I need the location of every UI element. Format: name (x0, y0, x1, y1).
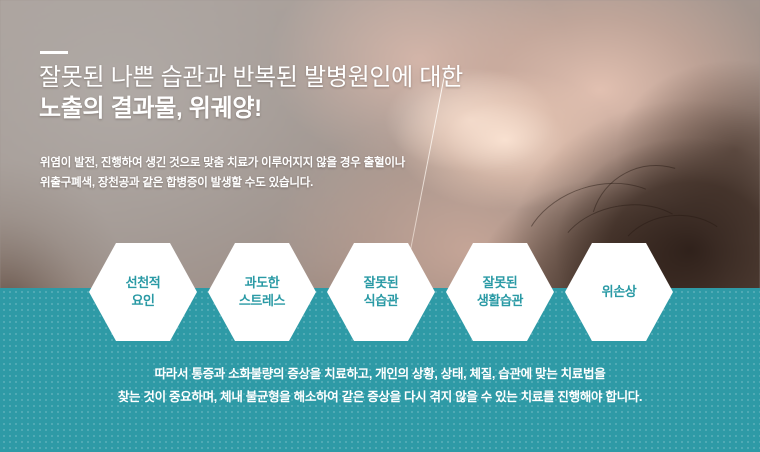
header-subcopy: 위염이 발전, 진행하여 생긴 것으로 맞춤 치료가 이루어지지 않을 경우 출… (40, 153, 560, 193)
footer-line-2: 찾는 것이 중요하며, 체내 불균형을 해소하여 같은 증상을 다시 겪지 않을… (0, 386, 760, 409)
headline-line-1: 잘못된 나쁜 습관과 반복된 발병원인에 대한 (39, 62, 599, 93)
page-title: 잘못된 나쁜 습관과 반복된 발병원인에 대한 노출의 결과물, 위궤양! (39, 62, 599, 124)
headline-line-2: 노출의 결과물, 위궤양! (39, 93, 599, 124)
hexagon-label: 잘못된 생활습관 (477, 274, 523, 309)
footer-copy: 따라서 통증과 소화불량의 증상을 치료하고, 개인의 상황, 상태, 체질, … (0, 363, 760, 409)
subcopy-line-1: 위염이 발전, 진행하여 생긴 것으로 맞춤 치료가 이루어지지 않을 경우 출… (40, 153, 560, 173)
hexagon-label: 잘못된 식습관 (364, 274, 399, 309)
hexagon-label: 위손상 (602, 283, 637, 301)
hexagon-item-3: 잘못된 식습관 (327, 243, 435, 341)
hexagon-item-4: 잘못된 생활습관 (446, 243, 554, 341)
hexagon-item-5: 위손상 (565, 243, 673, 341)
hexagon-label: 과도한 스트레스 (239, 274, 285, 309)
hexagon-label: 선천적 요인 (126, 274, 161, 309)
header-accent-rule (40, 51, 68, 54)
hexagon-item-2: 과도한 스트레스 (208, 243, 316, 341)
infographic-banner: 잘못된 나쁜 습관과 반복된 발병원인에 대한 노출의 결과물, 위궤양! 위염… (0, 0, 760, 452)
hexagon-item-1: 선천적 요인 (89, 243, 197, 341)
footer-line-1: 따라서 통증과 소화불량의 증상을 치료하고, 개인의 상황, 상태, 체질, … (0, 363, 760, 386)
cause-hexagon-row: 선천적 요인 과도한 스트레스 잘못된 식습관 잘못된 생활습관 위손상 (89, 243, 673, 341)
subcopy-line-2: 위출구폐색, 장천공과 같은 합병증이 발생할 수도 있습니다. (40, 173, 560, 193)
